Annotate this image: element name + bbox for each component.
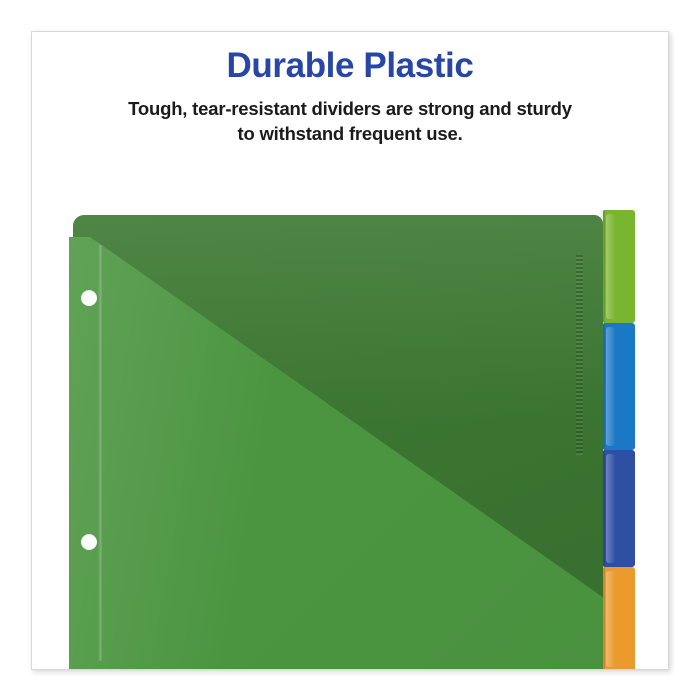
subtitle-line-2: to withstand frequent use. bbox=[32, 121, 668, 146]
product-image-canvas: Durable Plastic Tough, tear-resistant di… bbox=[0, 0, 700, 700]
product-card: Durable Plastic Tough, tear-resistant di… bbox=[31, 31, 669, 670]
tab-lime-green bbox=[603, 210, 635, 323]
page-title: Durable Plastic bbox=[32, 48, 668, 85]
subtitle-line-1: Tough, tear-resistant dividers are stron… bbox=[32, 96, 668, 121]
divider-sheet bbox=[69, 215, 603, 670]
punch-hole-bottom bbox=[81, 534, 97, 550]
tab-cyan-blue-face bbox=[603, 323, 635, 450]
tab-cyan-blue bbox=[603, 323, 635, 450]
tab-royal-blue bbox=[603, 450, 635, 567]
tab-orange-face bbox=[603, 567, 635, 670]
tab-lime-green-face bbox=[603, 210, 635, 323]
product-photo bbox=[32, 180, 669, 670]
divider-binding-crease bbox=[98, 245, 103, 661]
divider-perforation-strip bbox=[576, 255, 583, 455]
subtitle-block: Tough, tear-resistant dividers are stron… bbox=[32, 96, 668, 146]
tab-royal-blue-face bbox=[603, 450, 635, 567]
punch-hole-top bbox=[81, 290, 97, 306]
tab-orange bbox=[603, 567, 635, 670]
